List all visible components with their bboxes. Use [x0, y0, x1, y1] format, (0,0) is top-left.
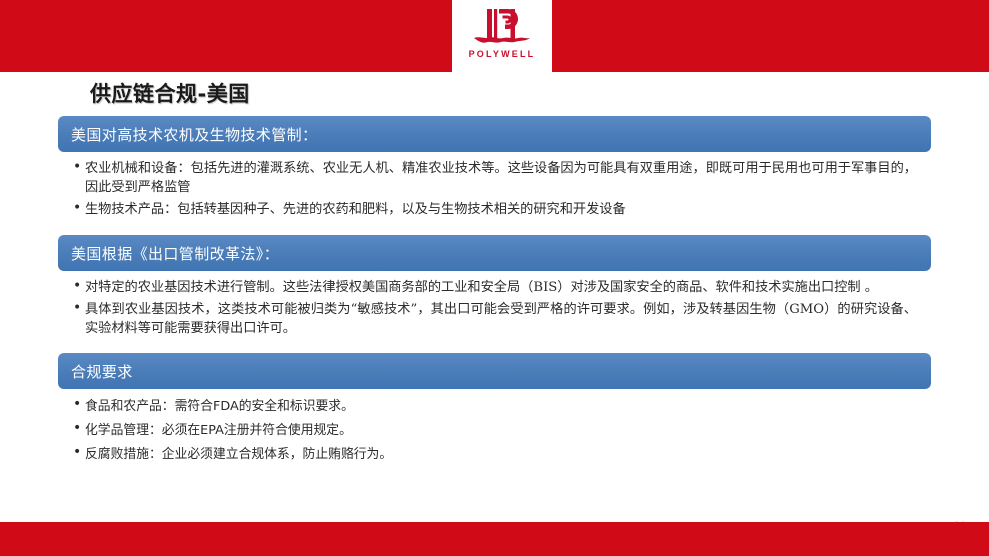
content-area: 美国对高技术农机及生物技术管制： 农业机械和设备：包括先进的灌溉系统、农业无人机…: [0, 116, 989, 468]
polywell-p-monogram-icon: [471, 6, 533, 48]
slide: POLYWELL 供应链合规-美国 美国对高技术农机及生物技术管制： 农业机械和…: [0, 0, 989, 556]
spacer: [0, 222, 989, 235]
page-title: 供应链合规-美国: [90, 78, 250, 108]
list-item: 食品和农产品：需符合FDA的安全和标识要求。: [72, 396, 917, 417]
bullet-list-1: 农业机械和设备：包括先进的灌溉系统、农业无人机、精准农业技术等。这些设备因为可能…: [72, 159, 917, 219]
list-item: 反腐败措施：企业必须建立合规体系，防止贿赂行为。: [72, 444, 917, 465]
section-heading-text-2: 美国根据《出口管制改革法》：: [71, 243, 279, 264]
list-item: 农业机械和设备：包括先进的灌溉系统、农业无人机、精准农业技术等。这些设备因为可能…: [72, 159, 917, 197]
bullet-list-2: 对特定的农业基因技术进行管制。这些法律授权美国商务部的工业和安全局（BIS）对涉…: [72, 278, 917, 338]
list-item: 对特定的农业基因技术进行管制。这些法律授权美国商务部的工业和安全局（BIS）对涉…: [72, 278, 917, 297]
spacer: [0, 341, 989, 353]
section-heading-band-1: 美国对高技术农机及生物技术管制：: [58, 116, 931, 152]
list-item: 化学品管理：必须在EPA注册并符合使用规定。: [72, 420, 917, 441]
section-heading-text-1: 美国对高技术农机及生物技术管制：: [71, 124, 317, 145]
list-item: 具体到农业基因技术，这类技术可能被归类为“敏感技术”，其出口可能会受到严格的许可…: [72, 300, 917, 338]
header-band: POLYWELL: [0, 0, 989, 72]
section-heading-band-2: 美国根据《出口管制改革法》：: [58, 235, 931, 271]
list-item: 生物技术产品：包括转基因种子、先进的农药和肥料，以及与生物技术相关的研究和开发设…: [72, 200, 917, 219]
footer-band: [0, 522, 989, 556]
section-heading-band-3: 合规要求: [58, 353, 931, 389]
brand-wordmark: POLYWELL: [469, 49, 536, 59]
brand-logo: POLYWELL: [452, 0, 552, 72]
section-heading-text-3: 合规要求: [71, 361, 133, 382]
bullet-list-3: 食品和农产品：需符合FDA的安全和标识要求。 化学品管理：必须在EPA注册并符合…: [72, 396, 917, 465]
